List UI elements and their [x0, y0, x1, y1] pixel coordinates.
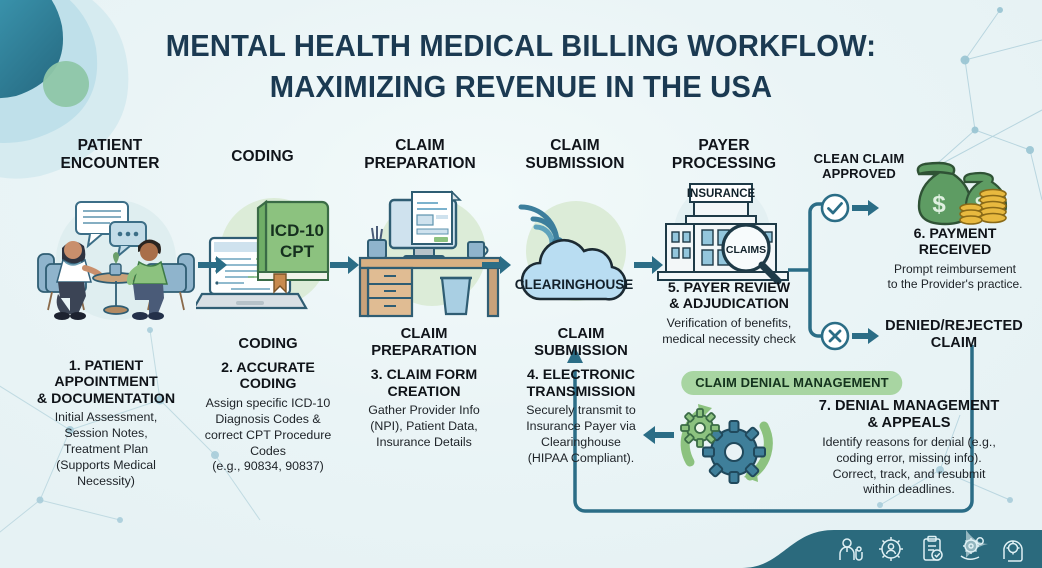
doctor-icon: [836, 535, 864, 563]
code-book-line-2: CPT: [280, 242, 315, 261]
stage-header-coding: CODING: [190, 148, 335, 166]
step-1-caption: 1. PATIENT APPOINTMENT & DOCUMENTATION I…: [8, 358, 204, 490]
step-6-caption: 6. PAYMENT RECEIVED Prompt reimbursement…: [872, 226, 1038, 293]
stage-header-line-1: CLAIM: [500, 137, 650, 155]
stage-header-line-2: SUBMISSION: [500, 155, 650, 173]
stage-header-line-2: PROCESSING: [648, 155, 800, 173]
claims-magnifier-label: CLAIMS: [726, 244, 766, 256]
code-book-line-1: ICD-10: [270, 221, 324, 240]
footer-icon-row: [836, 535, 1028, 563]
step-1-title: 1. PATIENT APPOINTMENT & DOCUMENTATION: [8, 358, 204, 407]
step-3-overline: CLAIM PREPARATION: [344, 326, 504, 360]
title-line-1: MENTAL HEALTH MEDICAL BILLING WORKFLOW:: [31, 26, 1010, 67]
step-6-title: 6. PAYMENT RECEIVED: [872, 226, 1038, 259]
step-7-body: Identify reasons for denial (e.g., codin…: [784, 435, 1034, 499]
stage-header-patient-encounter: PATIENT ENCOUNTER: [30, 137, 190, 172]
step-4-body: Securely transmit to Insurance Payer via…: [502, 403, 660, 467]
step-7-caption: 7. DENIAL MANAGEMENT & APPEALS Identify …: [784, 398, 1034, 498]
claim-denial-management-badge: CLAIM DENIAL MANAGEMENT: [681, 371, 902, 395]
step-7-title: 7. DENIAL MANAGEMENT & APPEALS: [784, 398, 1034, 432]
step-2-overline: CODING: [182, 336, 354, 353]
stage-header-line-1: CODING: [190, 148, 335, 166]
step-6-body: Prompt reimbursement to the Provider's p…: [872, 262, 1038, 293]
step-3-body: Gather Provider Info (NPI), Patient Data…: [344, 403, 504, 451]
step-2-title: 2. ACCURATE CODING: [182, 360, 354, 393]
stage-header-line-1: CLAIM: [345, 137, 495, 155]
stage-header-payer-processing: PAYER PROCESSING: [648, 137, 800, 172]
stage-header-clean-claim-approved: CLEAN CLAIM APPROVED: [790, 152, 928, 182]
step-2-caption: CODING 2. ACCURATE CODING Assign specifi…: [182, 336, 354, 475]
payer-processing-illustration: INSURANCE CLAIMS: [650, 178, 800, 288]
clipboard-check-icon: [918, 535, 946, 563]
stage-header-claim-preparation: CLAIM PREPARATION: [345, 137, 495, 172]
head-gear-icon: [1000, 535, 1028, 563]
title-line-2: MAXIMIZING REVENUE IN THE USA: [31, 67, 1010, 108]
step-3-title: 3. CLAIM FORM CREATION: [344, 367, 504, 400]
gear-user-icon: [877, 535, 905, 563]
stage-header-line-2: ENCOUNTER: [30, 155, 190, 173]
arrow-right-icon-2: [330, 255, 360, 275]
hand-gear-icon: [959, 535, 987, 563]
step-3-caption: CLAIM PREPARATION 3. CLAIM FORM CREATION…: [344, 326, 504, 451]
page-title: MENTAL HEALTH MEDICAL BILLING WORKFLOW: …: [0, 26, 1042, 108]
patient-encounter-illustration: [32, 186, 200, 326]
step-1-body: Initial Assessment, Session Notes, Treat…: [8, 410, 204, 489]
step-5-body: Verification of benefits, medical necess…: [638, 316, 820, 348]
step-2-body: Assign specific ICD-10 Diagnosis Codes &…: [182, 396, 354, 475]
clearinghouse-label: CLEARINGHOUSE: [515, 277, 634, 292]
step-5-caption: 5. PAYER REVIEW & ADJUDICATION Verificat…: [638, 280, 820, 348]
stage-header-line-1: CLEAN CLAIM: [790, 152, 928, 167]
stage-header-line-1: PAYER: [648, 137, 800, 155]
step-4-caption: CLAIM SUBMISSION 4. ELECTRONIC TRANSMISS…: [502, 326, 660, 466]
arrow-right-icon-approved: [852, 199, 880, 217]
claim-submission-illustration: CLEARINGHOUSE: [500, 195, 652, 313]
stage-header-line-2: APPROVED: [790, 167, 928, 182]
stage-header-line-1: PATIENT: [30, 137, 190, 155]
check-circle-icon: [820, 193, 850, 223]
step-4-title: 4. ELECTRONIC TRANSMISSION: [502, 367, 660, 400]
stage-header-claim-submission: CLAIM SUBMISSION: [500, 137, 650, 172]
arrow-right-icon-3: [482, 255, 512, 275]
step-4-overline: CLAIM SUBMISSION: [502, 326, 660, 360]
insurance-sign-label: INSURANCE: [687, 188, 756, 200]
denied-label-text: DENIED/REJECTED CLAIM: [874, 318, 1034, 351]
denied-rejected-claim-label: DENIED/REJECTED CLAIM: [874, 318, 1034, 351]
stage-header-line-2: PREPARATION: [345, 155, 495, 173]
arrow-right-icon-4: [634, 255, 664, 275]
infographic-canvas: MENTAL HEALTH MEDICAL BILLING WORKFLOW: …: [0, 0, 1042, 568]
arrow-right-icon-1: [198, 255, 228, 275]
money-symbol-1: $: [932, 191, 946, 218]
step-5-title: 5. PAYER REVIEW & ADJUDICATION: [638, 280, 820, 313]
